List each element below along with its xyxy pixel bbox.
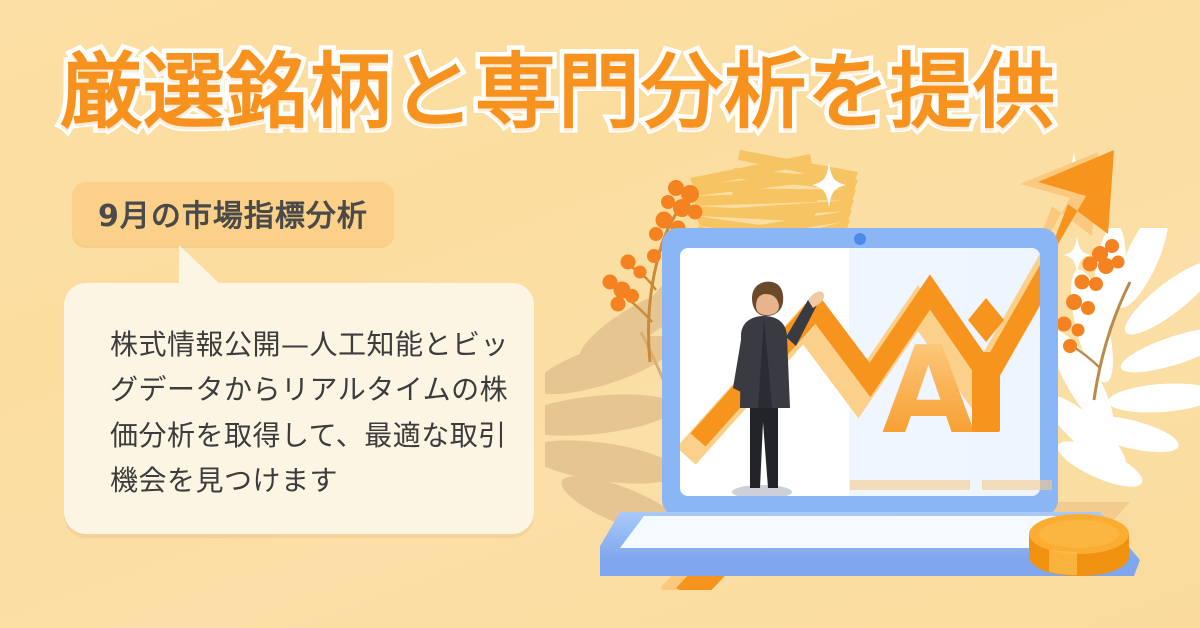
speech-bubble-tail [179, 245, 223, 287]
speech-bubble-text: 株式情報公開—人工知能とビッグデータからリアルタイムの株価分析を取得して、最適な… [110, 322, 530, 503]
banner-canvas: A [0, 0, 1200, 628]
coin-icon [1027, 514, 1131, 580]
page-title: 厳選銘柄と専門分析を提供 [60, 52, 1056, 134]
svg-text:A: A [882, 322, 975, 461]
status-badge: 9月の市場指標分析 [72, 182, 394, 246]
webcam-dot-icon [854, 233, 866, 245]
